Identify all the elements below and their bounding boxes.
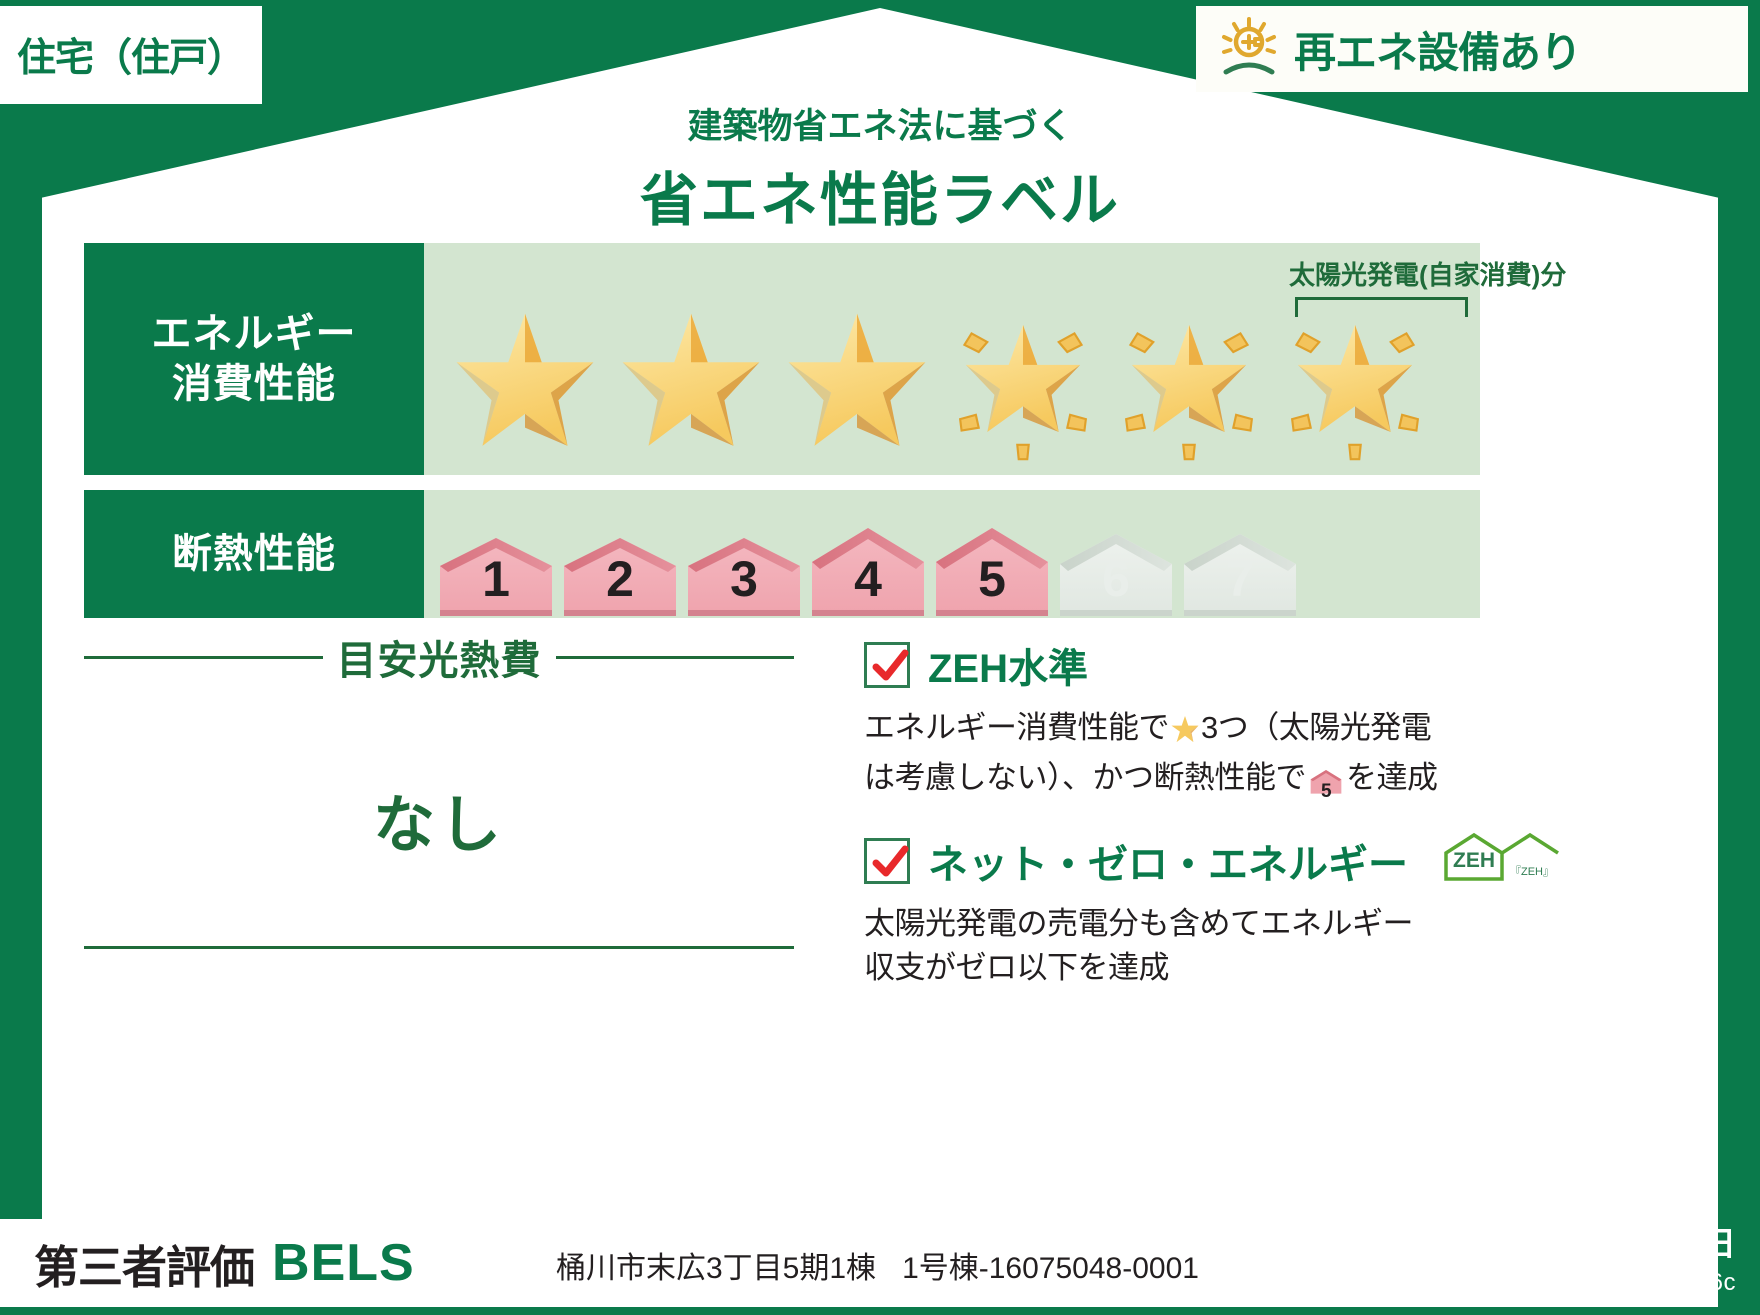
energy-performance-row: エネルギー 消費性能 太陽光発電(自家消費)分: [84, 243, 1480, 475]
insulation-level-group: 1 2: [434, 490, 1302, 618]
energy-row-label-line1: エネルギー: [152, 309, 357, 359]
bels-badge-jp-label: 第三者評価: [34, 1231, 254, 1296]
star-2: [608, 294, 774, 469]
utility-cost-column: 目安光熱費 なし: [84, 628, 794, 864]
star-5-solar: [1106, 294, 1272, 469]
inline-star-icon: [1170, 712, 1200, 756]
claim-zeh-level-header: ZEH水準: [864, 636, 1480, 694]
claim-net-zero-header: ネット・ゼロ・エネルギー ZEH 『ZEH』: [864, 831, 1480, 890]
svg-text:『ZEH』: 『ZEH』: [1510, 865, 1554, 878]
claim-zeh-star-count: 3つ（太陽光発電: [1201, 710, 1431, 745]
insulation-level-7: 7: [1178, 526, 1302, 618]
utility-cost-rule-left: [84, 656, 323, 659]
star-6-solar: [1272, 294, 1438, 469]
claim-zeh-level-body: エネルギー消費性能で3つ（太陽光発電 は考慮しない）、かつ断熱性能で5を達成: [864, 706, 1480, 807]
bels-label-root: 住宅（住戸） 再エネ設備あり 建築物省エネ法に基づく: [0, 0, 1760, 1315]
insulation-level-6: 6: [1054, 526, 1178, 618]
claim-net-zero-body: 太陽光発電の売電分も含めてエネルギー 収支がゼロ以下を達成: [864, 902, 1480, 990]
claim-net-zero-energy: ネット・ゼロ・エネルギー ZEH 『ZEH』 太陽光発電の売電分も含めてエネルギ…: [864, 831, 1480, 990]
claim-net-zero-title: ネット・ゼロ・エネルギー: [928, 832, 1408, 890]
zeh-level-checkbox[interactable]: [864, 642, 910, 688]
category-badge: 住宅（住戸）: [0, 6, 262, 104]
utility-cost-title: 目安光熱費: [337, 628, 542, 686]
insulation-level-3: 3: [682, 532, 806, 618]
solar-plug-icon: [1216, 14, 1282, 85]
claim-zeh-body-part2: は考慮しない）、かつ断熱性能で: [864, 760, 1306, 795]
property-address: 桶川市末広3丁目5期1棟1号棟-16075048-0001: [556, 1243, 1199, 1287]
zeh-logo-icon: ZEH 『ZEH』: [1440, 831, 1560, 890]
zeh-claims-column: ZEH水準 エネルギー消費性能で3つ（太陽光発電 は考慮しない）、かつ断熱性能で…: [864, 636, 1480, 990]
claim-net-zero-body-part2: 収支がゼロ以下を達成: [864, 950, 1169, 985]
claim-zeh-body-part3: を達成: [1346, 760, 1438, 795]
star-3: [774, 294, 940, 469]
insulation-level-4: 4: [806, 518, 930, 618]
claim-zeh-level: ZEH水準 エネルギー消費性能で3つ（太陽光発電 は考慮しない）、かつ断熱性能で…: [864, 636, 1480, 807]
title-subtitle: 建築物省エネ法に基づく: [0, 98, 1760, 149]
property-address-text: 桶川市末広3丁目5期1棟: [556, 1252, 876, 1285]
star-4-solar: [940, 294, 1106, 469]
utility-cost-bottom-rule: [84, 946, 794, 949]
insulation-row-label: 断熱性能: [84, 490, 424, 618]
energy-row-label-line2: 消費性能: [172, 359, 336, 409]
inline-house-badge: 5: [1309, 763, 1343, 807]
insulation-row-body: 1 2: [424, 490, 1480, 618]
evaluation-date-block: 評価日 2026年2月24日 b8aa5028-cfd5-476c: [1400, 1217, 1736, 1297]
utility-cost-header: 目安光熱費: [84, 628, 794, 686]
utility-cost-rule-right: [556, 656, 795, 659]
evaluation-date: 評価日 2026年2月24日: [1400, 1217, 1736, 1265]
energy-row-body: 太陽光発電(自家消費)分: [424, 243, 1480, 475]
star-rating-group: [442, 284, 1470, 469]
net-zero-checkbox[interactable]: [864, 838, 910, 884]
performance-rows: エネルギー 消費性能 太陽光発電(自家消費)分: [84, 243, 1480, 633]
insulation-level-2: 2: [558, 532, 682, 618]
utility-cost-value: なし: [84, 774, 794, 864]
insulation-row-label-text: 断熱性能: [172, 529, 336, 579]
insulation-performance-row: 断熱性能: [84, 490, 1480, 618]
star-1: [442, 294, 608, 469]
label-title-block: 建築物省エネ法に基づく 省エネ性能ラベル: [0, 98, 1760, 237]
inline-house-badge-number: 5: [1309, 779, 1343, 806]
claim-net-zero-body-part1: 太陽光発電の売電分も含めてエネルギー: [864, 906, 1413, 941]
footer: 第三者評価 BELS 桶川市末広3丁目5期1棟1号棟-16075048-0001…: [0, 1193, 1760, 1315]
insulation-level-5: 5: [930, 518, 1054, 618]
bels-badge-en-label: BELS: [272, 1233, 415, 1293]
category-badge-label: 住宅（住戸）: [17, 27, 245, 83]
property-building-id: 1号棟-16075048-0001: [902, 1252, 1199, 1285]
evaluation-id: b8aa5028-cfd5-476c: [1400, 1269, 1736, 1297]
insulation-level-1: 1: [434, 532, 558, 618]
energy-row-label: エネルギー 消費性能: [84, 243, 424, 475]
claim-zeh-body-part1: エネルギー消費性能で: [864, 710, 1169, 745]
bels-badge: 第三者評価 BELS: [0, 1219, 532, 1307]
svg-text:ZEH: ZEH: [1453, 849, 1495, 872]
title-main: 省エネ性能ラベル: [0, 153, 1760, 237]
renewable-equipment-badge: 再エネ設備あり: [1196, 6, 1748, 92]
claim-zeh-level-title: ZEH水準: [928, 636, 1088, 694]
renewable-badge-label: 再エネ設備あり: [1294, 19, 1581, 80]
